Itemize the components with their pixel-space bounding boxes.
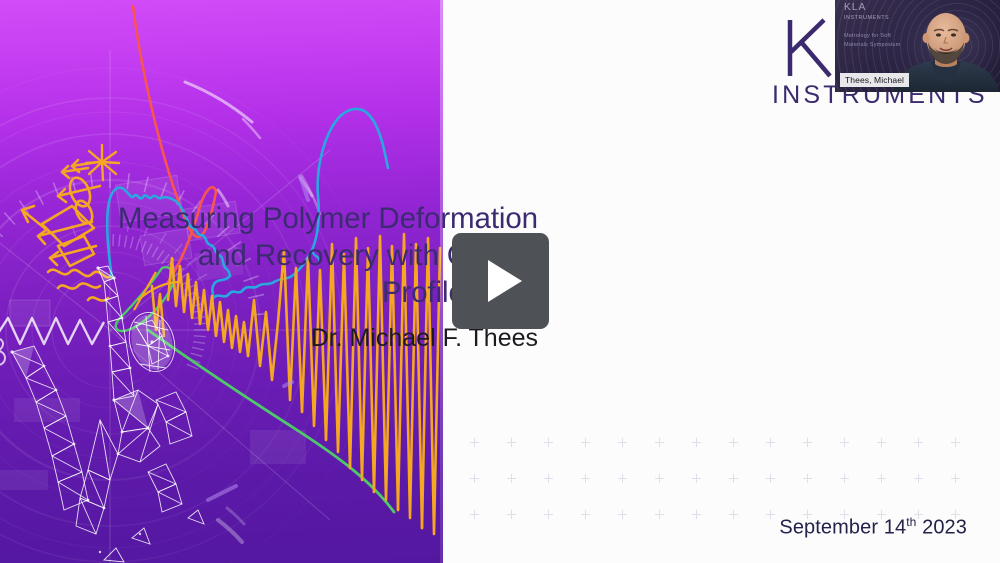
webcam-brand-name: KLA [844,2,889,15]
cross-mark [470,510,479,519]
cross-mark [729,438,738,447]
cross-mark [507,510,516,519]
webcam-participant-name: Thees, Michael [840,73,909,88]
cross-mark [877,438,886,447]
radial-rings [0,68,372,563]
cross-mark [544,510,553,519]
cross-mark [581,474,590,483]
cross-mark [877,474,886,483]
cross-mark [692,474,701,483]
cross-mark [766,438,775,447]
cross-mark [470,474,479,483]
webcam-branding: KLA INSTRUMENTS [844,2,889,21]
cross-mark [766,510,775,519]
cross-mark [544,438,553,447]
cross-mark [951,474,960,483]
cross-mark [692,510,701,519]
slide-date-ordinal: th [906,515,916,529]
webcam-overlay[interactable]: KLA INSTRUMENTS Metrology for Soft Mater… [835,0,1000,92]
slide-date-year: 2023 [916,517,967,539]
cross-mark [581,510,590,519]
cross-mark [655,510,664,519]
cross-mark [729,474,738,483]
cross-mark [507,474,516,483]
cross-mark [803,438,812,447]
cross-mark [951,438,960,447]
slide-date: September 14th 2023 [779,515,967,540]
cross-mark [581,438,590,447]
cross-mark [544,474,553,483]
slide-title-line-1: Measuring Polymer Deformation [20,200,538,237]
cross-mark [803,474,812,483]
play-button[interactable] [452,233,549,329]
cross-mark [470,438,479,447]
cross-mark [655,438,664,447]
cross-mark [692,438,701,447]
cross-mark [618,438,627,447]
cross-mark [914,474,923,483]
presentation-slide: INSTRUMENTS KLA INSTRUMENTS Metrology fo… [0,0,1000,563]
cross-mark [766,474,775,483]
play-icon [488,260,522,302]
cross-mark [618,474,627,483]
cross-mark [618,510,627,519]
cross-mark [655,474,664,483]
cross-mark [914,438,923,447]
cross-mark [729,510,738,519]
cross-mark [507,438,516,447]
cross-mark [840,474,849,483]
webcam-brand-sub: INSTRUMENTS [844,15,889,22]
cross-mark [840,438,849,447]
slide-date-text: September 14 [779,517,906,539]
